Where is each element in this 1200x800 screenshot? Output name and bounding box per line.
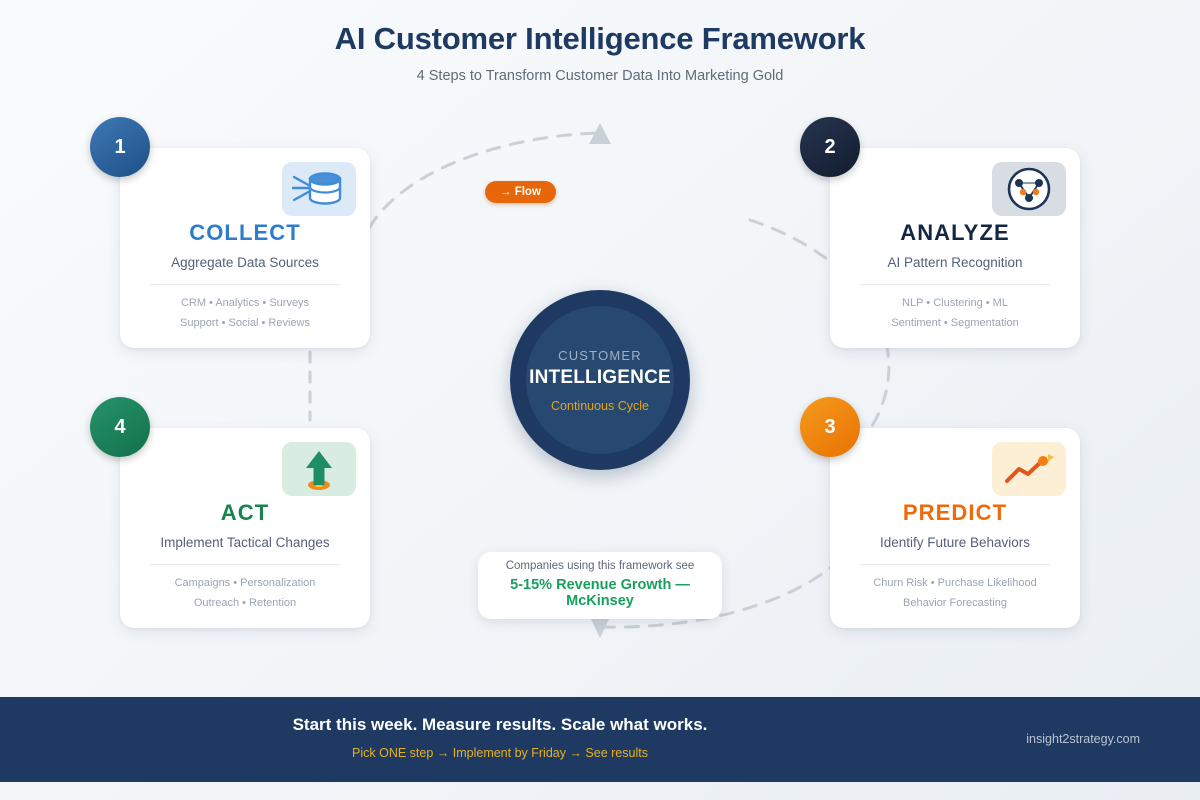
step-subtitle-analyze: AI Pattern Recognition xyxy=(830,255,1080,270)
tags-line-2: Outreach • Retention xyxy=(120,593,370,613)
arrowhead-top xyxy=(589,123,611,144)
tags-line-1: NLP • Clustering • ML xyxy=(830,293,1080,313)
tags-line-1: Churn Risk • Purchase Likelihood xyxy=(830,573,1080,593)
step-subtitle-act: Implement Tactical Changes xyxy=(120,535,370,550)
footer-headline: Start this week. Measure results. Scale … xyxy=(0,715,1000,735)
step-card-act[interactable]: 4 ACT Implement Tactical Changes Campaig… xyxy=(120,428,370,628)
framework-diagram: 1 COLLECT Aggregate Data Sources CRM • A… xyxy=(0,0,1200,800)
network-graph-icon xyxy=(992,162,1066,216)
step-subtitle-predict: Identify Future Behaviors xyxy=(830,535,1080,550)
card-divider xyxy=(860,284,1050,285)
arc-collect-to-analyze xyxy=(360,133,596,250)
step-card-collect[interactable]: 1 COLLECT Aggregate Data Sources CRM • A… xyxy=(120,148,370,348)
hub-line-2: INTELLIGENCE xyxy=(529,367,671,389)
card-divider xyxy=(150,284,340,285)
step-title-collect: COLLECT xyxy=(120,220,370,246)
step-card-predict[interactable]: 3 PREDICT Identify Future Behaviors Chur… xyxy=(830,428,1080,628)
rocket-arrow-up-icon xyxy=(282,442,356,496)
tags-line-1: CRM • Analytics • Surveys xyxy=(120,293,370,313)
footer-subline: Pick ONE step → Implement by Friday → Se… xyxy=(0,746,1000,760)
step-number-badge-1: 1 xyxy=(90,117,150,177)
card-divider xyxy=(860,564,1050,565)
flow-badge: → Flow xyxy=(485,181,556,203)
trend-up-chart-icon xyxy=(992,442,1066,496)
card-divider xyxy=(150,564,340,565)
hub-line-1: CUSTOMER xyxy=(558,348,642,363)
step-tags-analyze: NLP • Clustering • ML Sentiment • Segmen… xyxy=(830,293,1080,333)
step-title-predict: PREDICT xyxy=(830,500,1080,526)
tags-line-1: Campaigns • Personalization xyxy=(120,573,370,593)
center-hub-inner: CUSTOMER INTELLIGENCE Continuous Cycle xyxy=(526,306,674,454)
step-tags-collect: CRM • Analytics • Surveys Support • Soci… xyxy=(120,293,370,333)
step-number-badge-2: 2 xyxy=(800,117,860,177)
step-card-analyze[interactable]: 2 ANALYZE AI Pattern Recognition NLP • C… xyxy=(830,148,1080,348)
hub-line-3: Continuous Cycle xyxy=(551,399,649,413)
database-icon xyxy=(282,162,356,216)
stat-callout: Companies using this framework see 5-15%… xyxy=(478,552,722,619)
step-subtitle-collect: Aggregate Data Sources xyxy=(120,255,370,270)
step-title-act: ACT xyxy=(120,500,370,526)
step-number-badge-4: 4 xyxy=(90,397,150,457)
footer-bar: Start this week. Measure results. Scale … xyxy=(0,697,1200,782)
stat-value: 5-15% Revenue Growth — McKinsey xyxy=(488,577,712,609)
step-tags-predict: Churn Risk • Purchase Likelihood Behavio… xyxy=(830,573,1080,613)
step-number-badge-3: 3 xyxy=(800,397,860,457)
tags-line-2: Support • Social • Reviews xyxy=(120,313,370,333)
step-title-analyze: ANALYZE xyxy=(830,220,1080,246)
stat-caption: Companies using this framework see xyxy=(488,560,712,572)
footer-cta: Start this week. Measure results. Scale … xyxy=(0,715,1200,760)
footer-website-url[interactable]: insight2strategy.com xyxy=(1026,732,1140,746)
center-hub: CUSTOMER INTELLIGENCE Continuous Cycle xyxy=(510,290,690,470)
tags-line-2: Sentiment • Segmentation xyxy=(830,313,1080,333)
step-tags-act: Campaigns • Personalization Outreach • R… xyxy=(120,573,370,613)
tags-line-2: Behavior Forecasting xyxy=(830,593,1080,613)
